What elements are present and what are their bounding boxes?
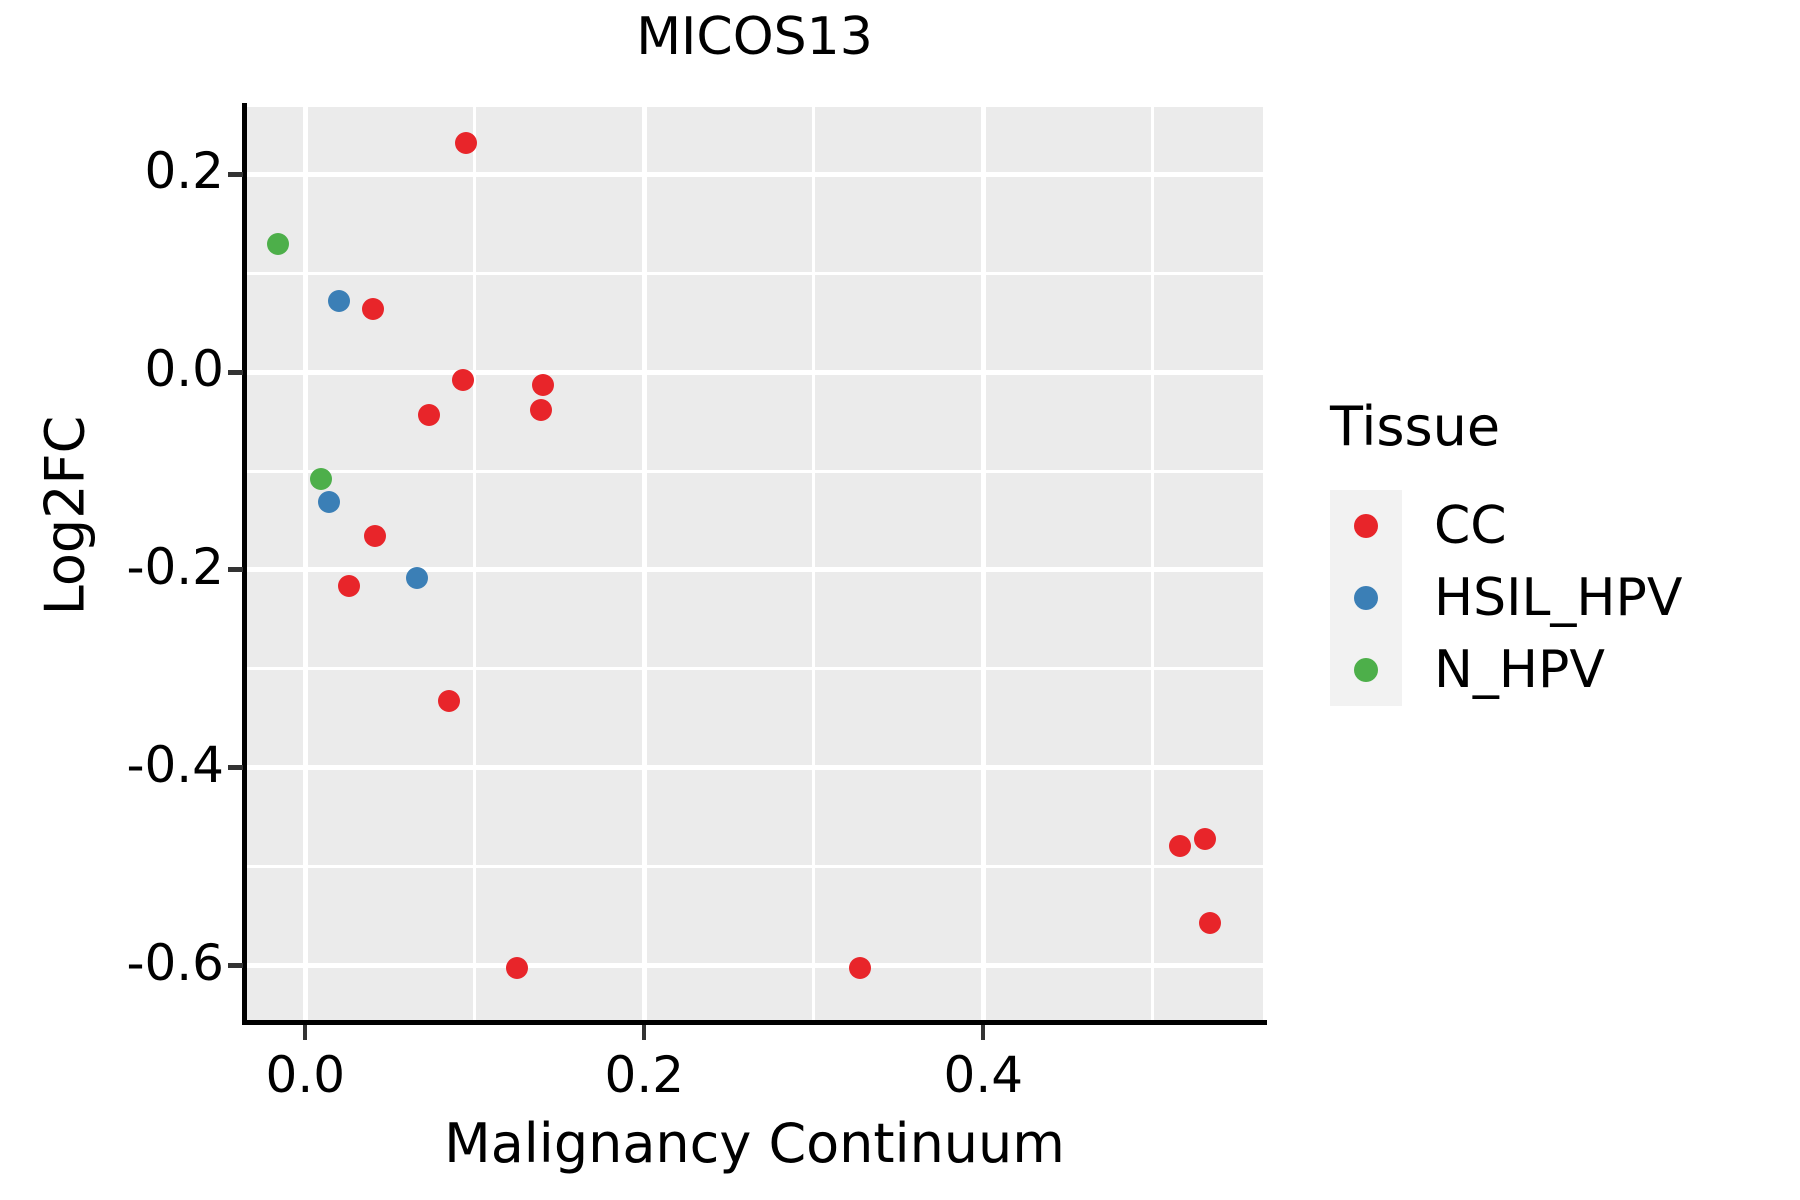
gridline-major-horizontal: [246, 370, 1263, 375]
legend-dot-icon: [1354, 514, 1378, 538]
y-tick-mark: [228, 567, 243, 572]
y-tick-label: -0.2: [126, 538, 224, 596]
scatter-point: [1169, 835, 1191, 857]
y-tick-mark: [228, 172, 243, 177]
scatter-point: [362, 298, 384, 320]
legend-dot-icon: [1354, 586, 1378, 610]
legend-item-label: HSIL_HPV: [1434, 572, 1682, 624]
legend-key-swatch: [1330, 490, 1402, 562]
y-tick-label: 0.2: [144, 142, 224, 200]
legend-item-label: N_HPV: [1434, 644, 1605, 696]
gridline-minor-vertical: [473, 107, 476, 1020]
y-tick-label: 0.0: [144, 340, 224, 398]
scatter-point: [364, 525, 386, 547]
scatter-point: [328, 290, 350, 312]
legend-title: Tissue: [1330, 400, 1780, 454]
legend-item-cc[interactable]: CC: [1330, 490, 1780, 562]
gridline-minor-horizontal: [246, 470, 1263, 473]
x-tick-label: 0.4: [944, 1046, 1024, 1104]
legend: Tissue CCHSIL_HPVN_HPV: [1330, 400, 1780, 706]
gridline-minor-horizontal: [246, 865, 1263, 868]
y-tick-label: -0.6: [126, 934, 224, 992]
scatter-point: [1199, 912, 1221, 934]
gridline-minor-vertical: [1151, 107, 1154, 1020]
scatter-point: [455, 132, 477, 154]
scatter-point: [506, 957, 528, 979]
legend-item-label: CC: [1434, 500, 1507, 552]
gridline-major-horizontal: [246, 765, 1263, 770]
gridline-major-horizontal: [246, 567, 1263, 572]
scatter-point: [267, 233, 289, 255]
gridline-major-vertical: [303, 107, 308, 1020]
y-tick-label: -0.4: [126, 736, 224, 794]
y-axis-line: [242, 103, 247, 1024]
chart-root: MICOS13 0.20.0-0.2-0.4-0.6 0.00.20.4 Mal…: [0, 0, 1800, 1200]
x-tick-label: 0.2: [605, 1046, 685, 1104]
scatter-point: [406, 567, 428, 589]
plot-panel: [246, 107, 1263, 1020]
legend-items: CCHSIL_HPVN_HPV: [1330, 490, 1780, 706]
x-tick-mark: [642, 1025, 646, 1040]
x-tick-label: 0.0: [266, 1046, 346, 1104]
gridline-minor-horizontal: [246, 272, 1263, 275]
y-tick-mark: [228, 765, 243, 770]
gridline-major-vertical: [642, 107, 647, 1020]
gridline-major-vertical: [981, 107, 986, 1020]
scatter-point: [530, 399, 552, 421]
page-title: MICOS13: [246, 6, 1263, 68]
y-axis-title: Log2FC: [34, 246, 97, 786]
legend-item-n_hpv[interactable]: N_HPV: [1330, 634, 1780, 706]
scatter-point: [418, 404, 440, 426]
scatter-point: [1194, 828, 1216, 850]
gridline-major-horizontal: [246, 963, 1263, 968]
scatter-point: [532, 374, 554, 396]
x-tick-mark: [303, 1025, 307, 1040]
legend-key-swatch: [1330, 562, 1402, 634]
gridline-minor-vertical: [812, 107, 815, 1020]
y-tick-mark: [228, 963, 243, 968]
scatter-point: [338, 575, 360, 597]
x-axis-line: [242, 1020, 1267, 1025]
y-tick-mark: [228, 370, 243, 375]
scatter-point: [849, 957, 871, 979]
scatter-point: [438, 690, 460, 712]
legend-dot-icon: [1354, 658, 1378, 682]
scatter-point: [310, 468, 332, 490]
gridline-major-horizontal: [246, 172, 1263, 177]
scatter-point: [452, 369, 474, 391]
legend-item-hsil_hpv[interactable]: HSIL_HPV: [1330, 562, 1780, 634]
x-axis-title: Malignancy Continuum: [246, 1112, 1263, 1175]
gridline-minor-horizontal: [246, 667, 1263, 670]
x-tick-mark: [981, 1025, 985, 1040]
legend-key-swatch: [1330, 634, 1402, 706]
scatter-point: [318, 491, 340, 513]
